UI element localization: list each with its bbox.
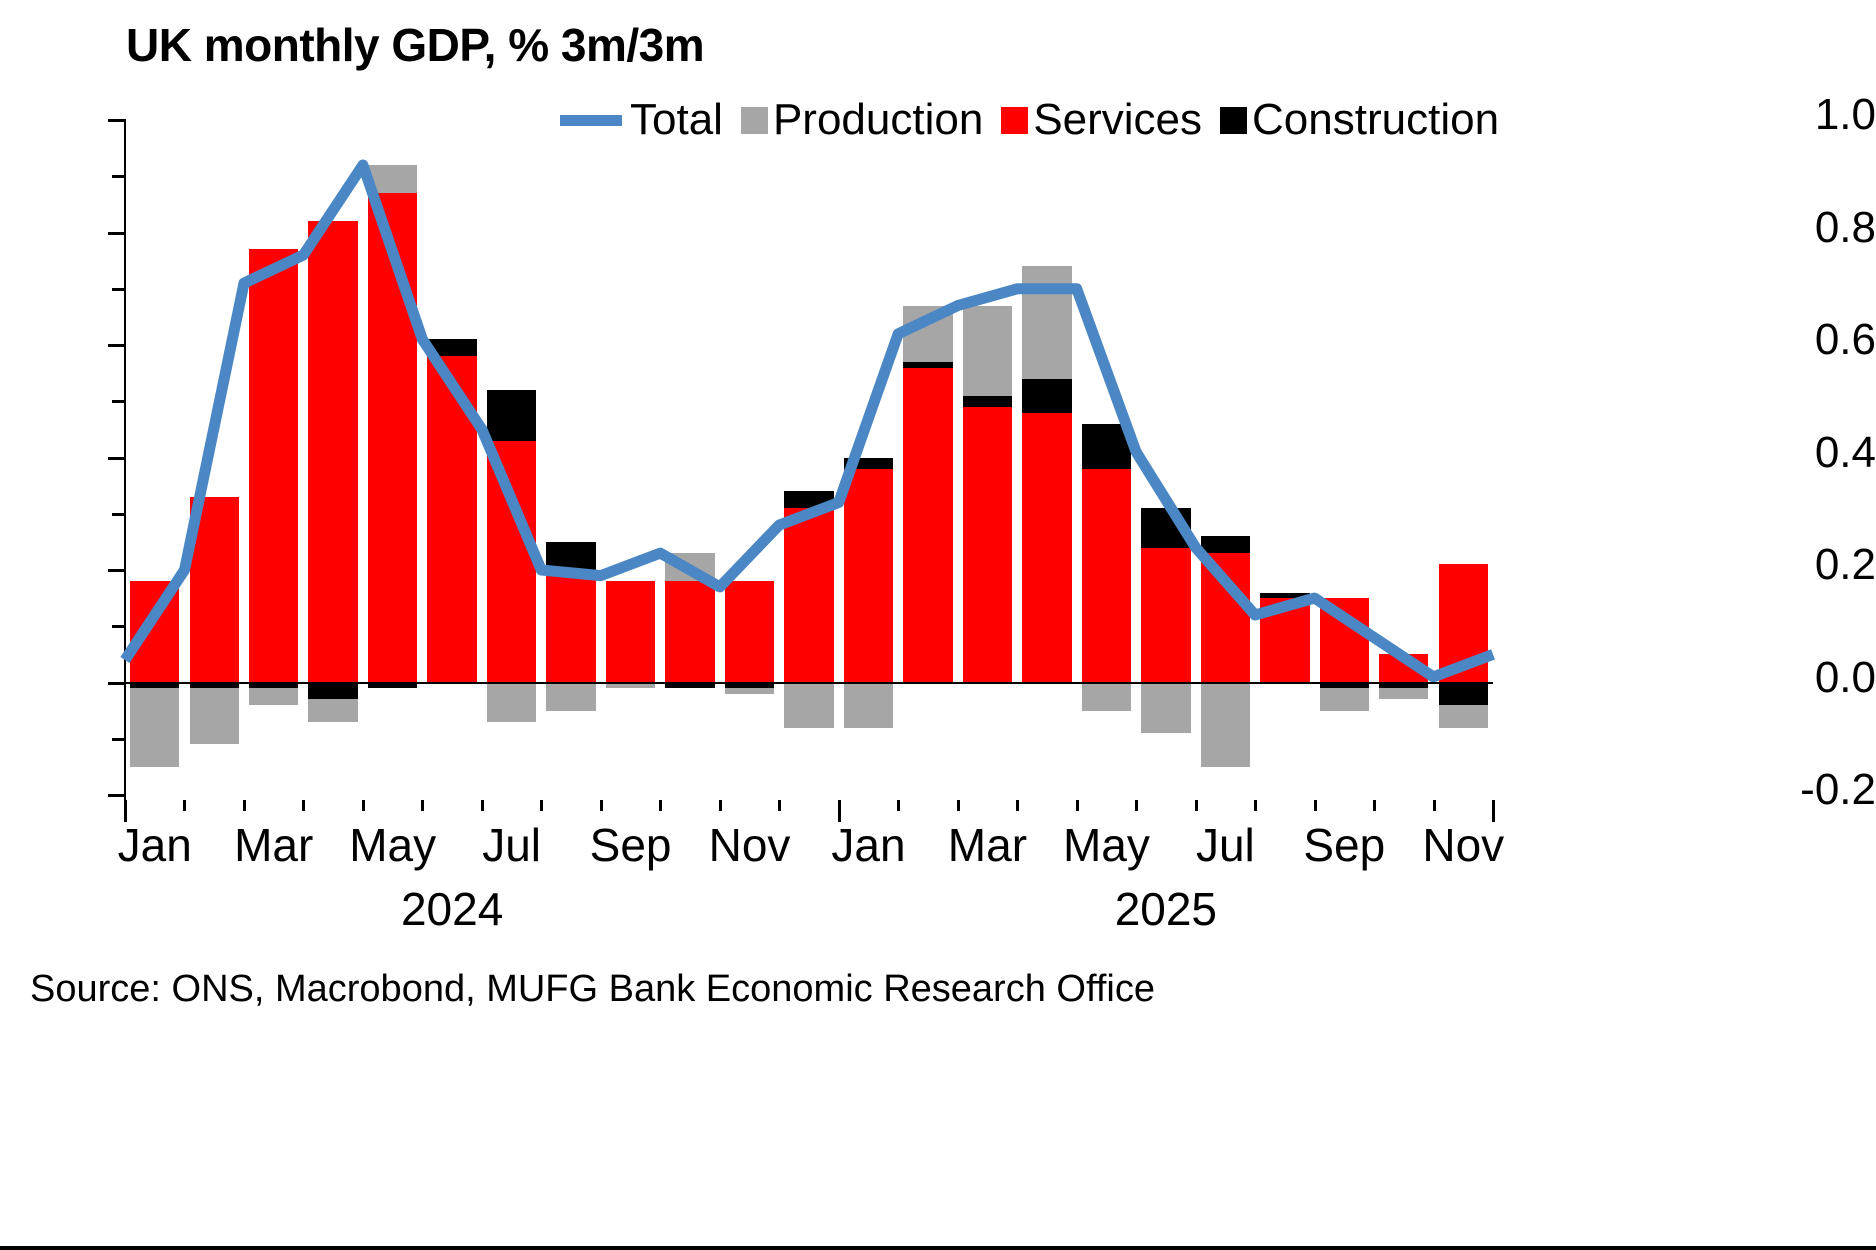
y-tick-major [108,457,125,460]
bar-segment-services [130,581,179,682]
bar-segment-services [725,581,774,682]
bar-segment-construction [1439,683,1488,706]
x-tick-minor [302,800,305,811]
bar-segment-production [963,306,1012,396]
y-tick-major [108,119,125,122]
bar-segment-production [308,699,357,722]
y-tick-minor [112,175,125,178]
bar-segment-services [1022,413,1071,683]
bar-segment-services [1439,564,1488,682]
y-axis-label: 0.8 [1771,203,1876,253]
x-tick-minor [421,800,424,811]
bar-segment-production [368,165,417,193]
y-axis-line [124,119,126,800]
x-axis-label: Jan [831,818,905,872]
x-tick-minor [897,800,900,811]
bar-segment-services [963,407,1012,683]
y-axis-label: 1.0 [1771,90,1876,140]
zero-baseline [125,682,1493,684]
bar-segment-services [1320,598,1369,682]
x-tick-minor [1135,800,1138,811]
bar-segment-production [1082,683,1131,711]
legend-label-services: Services [1033,98,1202,142]
legend-item-total: Total [560,98,723,142]
bar-segment-construction [844,458,893,469]
bar-segment-production [130,688,179,767]
y-axis-label: 0.0 [1771,653,1876,703]
line-swatch-icon [560,115,622,126]
x-tick-minor [1314,800,1317,811]
x-axis-label: Mar [948,818,1027,872]
x-tick-minor [719,800,722,811]
bar-segment-services [1082,469,1131,683]
x-tick-minor [362,800,365,811]
legend-item-services: Services [983,98,1202,142]
bar-segment-services [368,193,417,682]
legend-label-construction: Construction [1252,98,1499,142]
x-tick-minor [1254,800,1257,811]
bar-segment-production [546,683,595,711]
y-tick-minor [112,625,125,628]
bar-segment-production [1439,705,1488,728]
bar-segment-production [1141,683,1190,734]
y-tick-major [108,569,125,572]
bar-segment-services [308,221,357,682]
bar-segment-construction [1260,593,1309,599]
legend-label-total: Total [630,98,723,142]
x-tick-minor [1195,800,1198,811]
bar-segment-production [903,306,952,362]
bar-segment-construction [784,491,833,508]
square-swatch-icon [741,107,768,134]
bar-segment-services [665,581,714,682]
bar-segment-construction [427,339,476,356]
x-tick-minor [1433,800,1436,811]
x-axis-label: Nov [709,818,791,872]
x-tick-minor [659,800,662,811]
bar-segment-services [606,581,655,682]
bar-segment-services [249,249,298,682]
x-tick-minor [481,800,484,811]
x-axis-label: May [349,818,436,872]
x-axis-year-label: 2025 [1115,882,1217,936]
x-tick-minor [1076,800,1079,811]
bar-segment-construction [1141,508,1190,547]
y-tick-major [108,682,125,685]
bar-segment-construction [1082,424,1131,469]
x-axis-label: Jul [1196,818,1255,872]
square-swatch-icon [1001,107,1028,134]
bar-segment-production [190,688,239,744]
legend-item-production: Production [723,98,983,142]
bar-segment-construction [963,396,1012,407]
page-title: UK monthly GDP, % 3m/3m [126,18,704,72]
bar-segment-construction [546,542,595,576]
bar-segment-production [784,683,833,728]
bar-segment-production [487,683,536,722]
y-tick-minor [112,288,125,291]
x-tick-minor [957,800,960,811]
x-tick-minor [600,800,603,811]
footer-divider [0,1246,1876,1250]
bar-segment-construction [903,362,952,368]
bar-segment-construction [308,683,357,700]
bar-segment-services [1379,654,1428,682]
x-tick-minor [540,800,543,811]
y-axis-label: 0.2 [1771,540,1876,590]
bar-segment-construction [1022,379,1071,413]
y-tick-major [108,344,125,347]
bar-segment-services [1141,548,1190,683]
y-tick-minor [112,513,125,516]
y-tick-minor [112,738,125,741]
source-note: Source: ONS, Macrobond, MUFG Bank Econom… [30,968,1155,1011]
x-axis-label: Mar [234,818,313,872]
bar-segment-production [1379,688,1428,699]
x-tick-minor [1373,800,1376,811]
x-tick-minor [778,800,781,811]
bar-segment-production [665,553,714,581]
bar-segment-production [844,683,893,728]
bar-segment-services [190,497,239,683]
chart-legend: Total Production Services Construction [560,98,1499,142]
legend-item-construction: Construction [1202,98,1499,142]
bar-segment-production [725,688,774,694]
x-axis-label: Nov [1422,818,1504,872]
y-tick-minor [112,400,125,403]
x-axis-label: Sep [590,818,672,872]
bar-segment-services [487,441,536,683]
bar-segment-production [249,688,298,705]
bar-segment-production [1320,688,1369,711]
bar-segment-construction [1201,536,1250,553]
y-axis-label: -0.2 [1771,765,1876,815]
y-axis-label: 0.6 [1771,315,1876,365]
bar-segment-services [546,576,595,683]
bar-segment-services [1201,553,1250,682]
y-tick-major [108,794,125,797]
x-tick-minor [1016,800,1019,811]
bar-segment-services [1260,598,1309,682]
bar-segment-services [784,508,833,682]
x-axis-label: Jan [118,818,192,872]
y-tick-major [108,232,125,235]
square-swatch-icon [1220,107,1247,134]
y-axis-label: 0.4 [1771,428,1876,478]
bar-segment-services [427,356,476,682]
bar-segment-services [903,368,952,683]
x-axis-label: Jul [482,818,541,872]
x-tick-minor [183,800,186,811]
bar-segment-services [844,469,893,683]
x-axis-label: Sep [1303,818,1385,872]
x-axis-year-label: 2024 [401,882,503,936]
x-tick-minor [243,800,246,811]
bar-segment-production [1022,266,1071,379]
bar-segment-production [1201,683,1250,767]
x-axis-label: May [1063,818,1150,872]
bar-segment-construction [487,390,536,441]
legend-label-production: Production [773,98,983,142]
